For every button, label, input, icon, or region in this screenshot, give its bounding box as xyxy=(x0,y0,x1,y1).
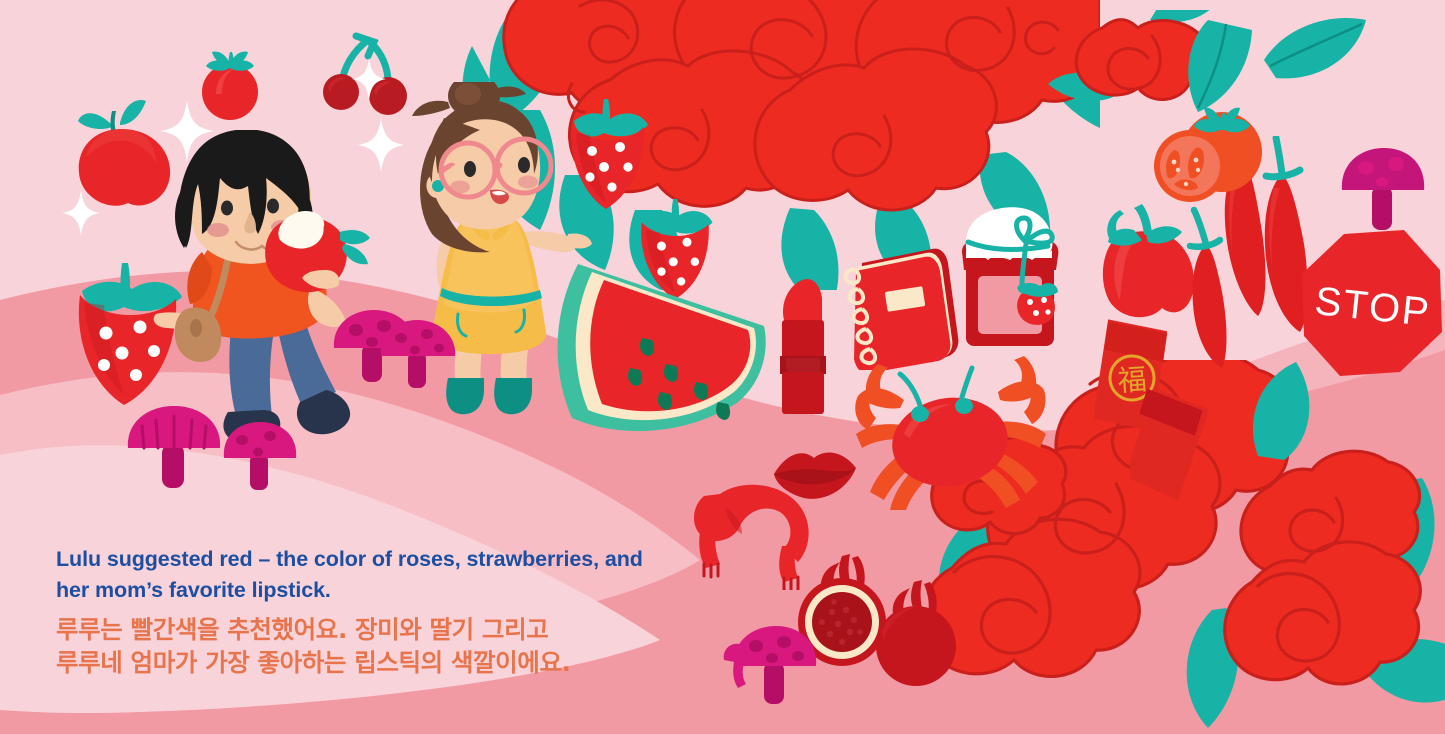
teal-leaf xyxy=(1240,356,1350,466)
red-envelope xyxy=(1130,386,1230,506)
pomegranate xyxy=(862,576,974,686)
sparkle-icon xyxy=(352,58,386,100)
caption-english-line-1: Lulu suggested red – the color of roses,… xyxy=(56,544,736,575)
watermelon-slice xyxy=(548,250,778,440)
caption-english-line-2: her mom’s favorite lipstick. xyxy=(56,575,736,606)
mushroom xyxy=(1332,140,1430,232)
jam-jar xyxy=(948,200,1073,350)
teal-leaf xyxy=(1256,0,1376,90)
mushroom xyxy=(375,316,461,390)
caption-block: Lulu suggested red – the color of roses,… xyxy=(56,544,736,679)
caption-korean-line-2: 루루네 엄마가 가장 좋아하는 립스틱의 색깔이에요. xyxy=(56,646,736,679)
caption-korean-line-1: 루루는 빨간색을 추천했어요. 장미와 딸기 그리고 xyxy=(56,613,736,646)
sparkle-icon xyxy=(62,190,100,236)
picture-book-page: STOP 福 xyxy=(0,0,1445,734)
crab xyxy=(848,330,1048,510)
mushroom xyxy=(120,400,228,490)
lipstick xyxy=(772,268,840,418)
mushroom xyxy=(218,418,302,492)
